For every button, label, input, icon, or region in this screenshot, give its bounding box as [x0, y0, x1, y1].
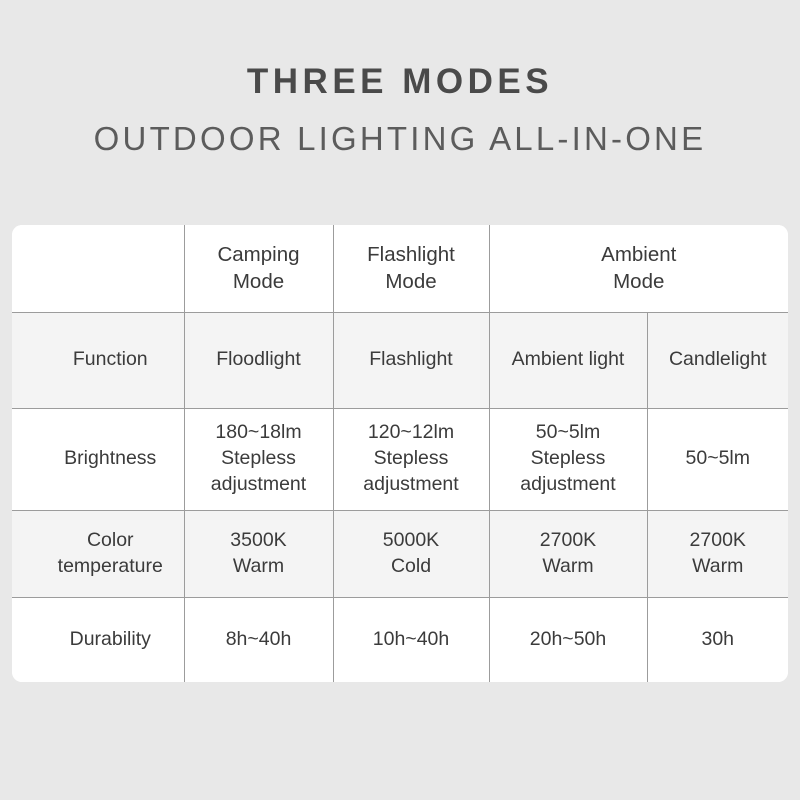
- table-row-durability: Durability 8h~40h 10h~40h 20h~50h 30h: [12, 597, 788, 682]
- row-label-brightness: Brightness: [12, 408, 184, 510]
- table-row-brightness: Brightness 180~18lm Stepless adjustment …: [12, 408, 788, 510]
- header-camping-mode-line1: Camping: [185, 241, 333, 268]
- row-label-color-temperature: Color temperature: [12, 510, 184, 597]
- cell-brightness-flashlight-line1: 120~12lm: [334, 420, 489, 446]
- header-ambient-mode-line1: Ambient: [490, 241, 789, 268]
- cell-colortemp-camping: 3500K Warm: [184, 510, 333, 597]
- header-ambient-mode: Ambient Mode: [489, 225, 788, 312]
- cell-brightness-camping-line3: adjustment: [185, 472, 333, 498]
- table-row-color-temperature: Color temperature 3500K Warm 5000K: [12, 510, 788, 597]
- heading-block: THREE MODES OUTDOOR LIGHTING ALL-IN-ONE: [0, 60, 800, 159]
- cell-colortemp-candlelight-line1: 2700K: [648, 528, 789, 554]
- header-camping-mode-line2: Mode: [185, 268, 333, 295]
- cell-brightness-flashlight-line3: adjustment: [334, 472, 489, 498]
- cell-brightness-ambient-line2: Stepless: [490, 446, 647, 472]
- table-row-function: Function Floodlight Flashlight Ambient l…: [12, 312, 788, 408]
- cell-brightness-camping-line1: 180~18lm: [185, 420, 333, 446]
- row-label-color-temperature-line2: temperature: [37, 554, 184, 580]
- cell-function-flashlight: Flashlight: [333, 312, 489, 408]
- spec-table-container: Camping Mode Flashlight Mode Ambient: [12, 225, 788, 682]
- cell-brightness-ambient-line1: 50~5lm: [490, 420, 647, 446]
- page-title: THREE MODES: [0, 60, 800, 104]
- cell-durability-camping: 8h~40h: [184, 597, 333, 682]
- header-flashlight-mode-line1: Flashlight: [334, 241, 489, 268]
- cell-brightness-camping-line2: Stepless: [185, 446, 333, 472]
- cell-colortemp-ambient-line1: 2700K: [490, 528, 647, 554]
- product-spec-page: THREE MODES OUTDOOR LIGHTING ALL-IN-ONE …: [0, 0, 800, 800]
- cell-colortemp-camping-line1: 3500K: [185, 528, 333, 554]
- header-camping-mode: Camping Mode: [184, 225, 333, 312]
- cell-colortemp-candlelight-line2: Warm: [648, 554, 789, 580]
- cell-colortemp-ambient: 2700K Warm: [489, 510, 647, 597]
- header-flashlight-mode: Flashlight Mode: [333, 225, 489, 312]
- cell-brightness-ambient: 50~5lm Stepless adjustment: [489, 408, 647, 510]
- cell-brightness-flashlight-line2: Stepless: [334, 446, 489, 472]
- cell-colortemp-candlelight: 2700K Warm: [647, 510, 788, 597]
- cell-brightness-ambient-line3: adjustment: [490, 472, 647, 498]
- cell-colortemp-flashlight-line1: 5000K: [334, 528, 489, 554]
- cell-colortemp-ambient-line2: Warm: [490, 554, 647, 580]
- cell-colortemp-camping-line2: Warm: [185, 554, 333, 580]
- header-ambient-mode-line2: Mode: [490, 268, 789, 295]
- row-label-durability: Durability: [12, 597, 184, 682]
- header-flashlight-mode-line2: Mode: [334, 268, 489, 295]
- page-subtitle: OUTDOOR LIGHTING ALL-IN-ONE: [0, 118, 800, 159]
- cell-brightness-flashlight: 120~12lm Stepless adjustment: [333, 408, 489, 510]
- cell-colortemp-flashlight-line2: Cold: [334, 554, 489, 580]
- cell-durability-ambient: 20h~50h: [489, 597, 647, 682]
- cell-function-candlelight: Candlelight: [647, 312, 788, 408]
- specification-table: Camping Mode Flashlight Mode Ambient: [12, 225, 788, 682]
- table-header-row: Camping Mode Flashlight Mode Ambient: [12, 225, 788, 312]
- cell-durability-flashlight: 10h~40h: [333, 597, 489, 682]
- cell-durability-candlelight: 30h: [647, 597, 788, 682]
- header-corner-cell: [12, 225, 184, 312]
- row-label-function: Function: [12, 312, 184, 408]
- row-label-color-temperature-line1: Color: [37, 528, 184, 554]
- cell-brightness-candlelight: 50~5lm: [647, 408, 788, 510]
- cell-colortemp-flashlight: 5000K Cold: [333, 510, 489, 597]
- cell-function-camping: Floodlight: [184, 312, 333, 408]
- cell-function-ambient: Ambient light: [489, 312, 647, 408]
- cell-brightness-camping: 180~18lm Stepless adjustment: [184, 408, 333, 510]
